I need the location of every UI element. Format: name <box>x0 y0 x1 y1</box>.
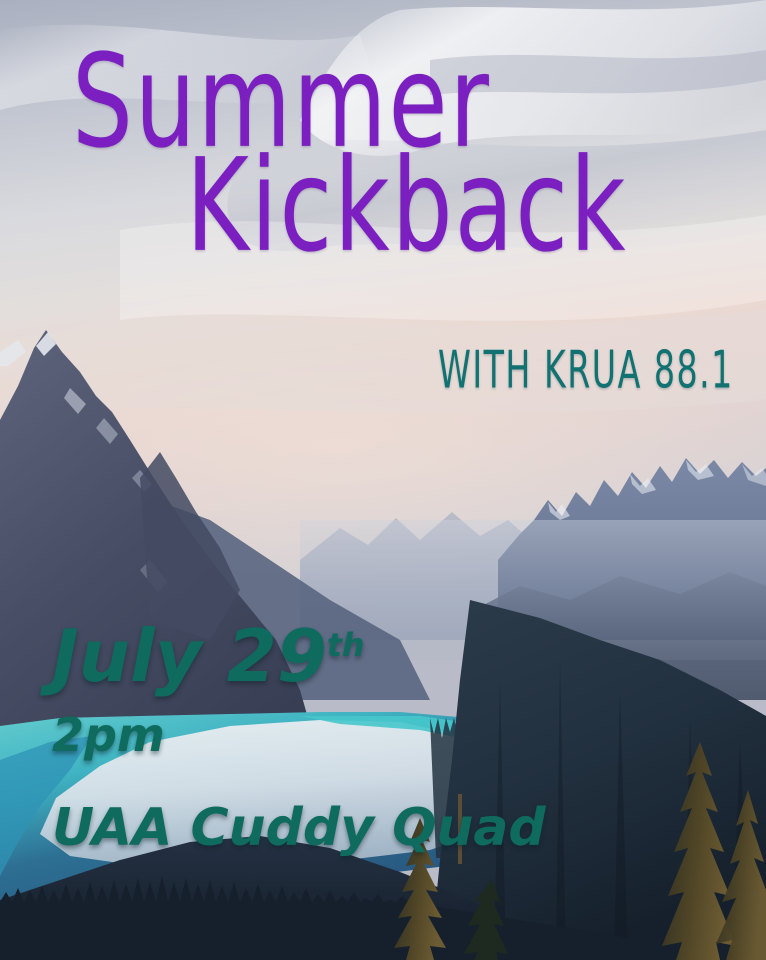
subtitle-krua: WITH KRUA 88.1 <box>438 340 734 400</box>
event-time-text: 2pm <box>52 708 165 762</box>
poster-text-overlay: Summer Kickback WITH KRUA 88.1 July 29th… <box>0 0 766 960</box>
event-date-suffix: th <box>327 628 365 664</box>
event-location: UAA Cuddy Quad <box>52 798 546 858</box>
event-date: July 29th <box>52 614 365 698</box>
event-date-text: July 29 <box>52 614 327 698</box>
headline-line-2: Kickback <box>186 144 628 267</box>
event-time: 2pm <box>52 708 165 762</box>
event-poster: Summer Kickback WITH KRUA 88.1 July 29th… <box>0 0 766 960</box>
event-location-text: UAA Cuddy Quad <box>52 798 546 858</box>
